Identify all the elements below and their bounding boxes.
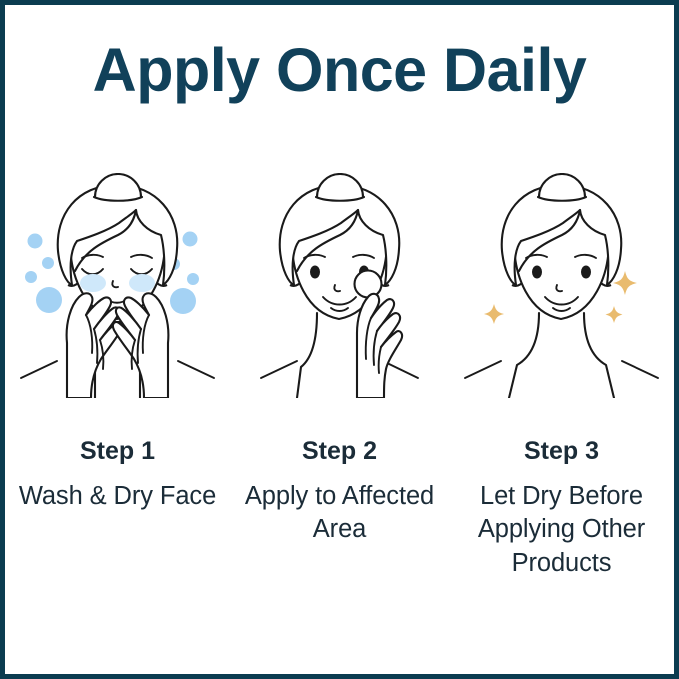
neck-line-left bbox=[509, 313, 539, 398]
shoulder-line-left bbox=[21, 361, 57, 378]
woman-applying-product-with-cotton-pad-illustration bbox=[237, 173, 442, 398]
shoulder-line-left bbox=[465, 361, 501, 378]
bubble-icon bbox=[187, 273, 199, 285]
step-label: Step 2 bbox=[302, 438, 377, 466]
eye-left bbox=[532, 266, 542, 279]
hair-bun bbox=[317, 174, 363, 197]
eye-right bbox=[581, 266, 591, 279]
step-description: Let Dry Before Applying Other Products bbox=[451, 480, 672, 581]
shoulder-line-right bbox=[622, 361, 658, 378]
bubble-icon bbox=[42, 257, 54, 269]
bubble-icon bbox=[28, 234, 43, 249]
step-label: Step 3 bbox=[524, 438, 599, 466]
woman-washing-face-with-bubbles-illustration bbox=[15, 173, 220, 398]
sparkle-icon-large-right bbox=[613, 271, 637, 295]
page-title: Apply Once Daily bbox=[5, 35, 674, 105]
bubble-icon bbox=[36, 287, 62, 313]
hand-right bbox=[357, 294, 402, 398]
shoulder-line-right bbox=[178, 361, 214, 378]
step-description: Wash & Dry Face bbox=[19, 480, 216, 514]
step-card-1: Step 1 Wash & Dry Face bbox=[7, 173, 228, 513]
cheek-foam-left bbox=[80, 274, 106, 292]
cheek-foam-right bbox=[129, 274, 155, 292]
step-card-2: Step 2 Apply to Affected Area bbox=[229, 173, 450, 547]
eye-left bbox=[310, 266, 320, 279]
steps-row: Step 1 Wash & Dry Face bbox=[7, 173, 672, 580]
neck-line-right bbox=[584, 313, 614, 398]
step-label: Step 1 bbox=[80, 438, 155, 466]
hair-bun bbox=[95, 174, 141, 197]
bubble-icon bbox=[25, 271, 37, 283]
sparkle-icon-left bbox=[484, 304, 504, 324]
shoulder-line-left bbox=[261, 361, 297, 378]
instruction-poster: Apply Once Daily bbox=[0, 0, 679, 679]
cotton-pad bbox=[355, 271, 382, 298]
sparkle-icon-small-right bbox=[606, 306, 623, 323]
step-description: Apply to Affected Area bbox=[229, 480, 450, 547]
neck-line-left bbox=[297, 313, 317, 398]
bubble-icon bbox=[183, 232, 198, 247]
bubble-icon bbox=[170, 288, 196, 314]
hair-bun bbox=[539, 174, 585, 197]
shoulder-line-right bbox=[387, 363, 418, 378]
step-card-3: Step 3 Let Dry Before Applying Other Pro… bbox=[451, 173, 672, 580]
woman-face-with-sparkles-illustration bbox=[459, 173, 664, 398]
